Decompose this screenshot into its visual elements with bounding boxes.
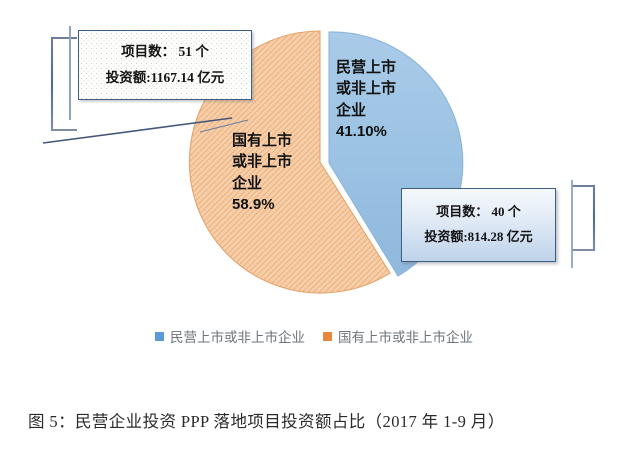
slice-label-soe: 国有上市 或非上市 企业 58.9% bbox=[232, 130, 292, 215]
right-bracket bbox=[572, 180, 594, 268]
slice-label-soe-percent: 58.9% bbox=[232, 194, 292, 215]
slice-label-private-percent: 41.10% bbox=[336, 121, 396, 142]
callout-soe-projects: 项目数： 51 个 bbox=[121, 39, 209, 65]
left-bracket bbox=[52, 26, 77, 130]
legend-item-private[interactable]: 民营上市或非上市企业 bbox=[155, 326, 305, 346]
slice-label-soe-line1: 国有上市 bbox=[232, 130, 292, 151]
legend-item-soe[interactable]: 国有上市或非上市企业 bbox=[323, 326, 473, 346]
slice-label-private-line3: 企业 bbox=[336, 100, 396, 121]
slice-label-private-line1: 民营上市 bbox=[336, 57, 396, 78]
legend-label-soe: 国有上市或非上市企业 bbox=[338, 326, 473, 346]
slice-label-private-line2: 或非上市 bbox=[336, 78, 396, 99]
callout-private-investment: 投资额:814.28 亿元 bbox=[424, 225, 532, 250]
legend-swatch-private-icon bbox=[155, 332, 164, 341]
chart-legend: 民营上市或非上市企业 国有上市或非上市企业 bbox=[0, 326, 628, 346]
callout-soe-investment: 投资额:1167.14 亿元 bbox=[106, 65, 225, 91]
callout-box-soe: 项目数： 51 个 投资额:1167.14 亿元 bbox=[78, 30, 252, 100]
callout-private-projects: 项目数： 40 个 bbox=[436, 200, 521, 225]
slice-label-soe-line3: 企业 bbox=[232, 173, 292, 194]
legend-swatch-soe-icon bbox=[323, 332, 332, 341]
slice-label-soe-line2: 或非上市 bbox=[232, 151, 292, 172]
figure-container: 项目数： 51 个 投资额:1167.14 亿元 项目数： 40 个 投资额:8… bbox=[0, 0, 628, 460]
callout-box-private: 项目数： 40 个 投资额:814.28 亿元 bbox=[401, 188, 556, 262]
slice-label-private: 民营上市 或非上市 企业 41.10% bbox=[336, 57, 396, 142]
legend-label-private: 民营上市或非上市企业 bbox=[170, 326, 305, 346]
figure-caption: 图 5：民营企业投资 PPP 落地项目投资额占比（2017 年 1-9 月） bbox=[28, 408, 608, 432]
